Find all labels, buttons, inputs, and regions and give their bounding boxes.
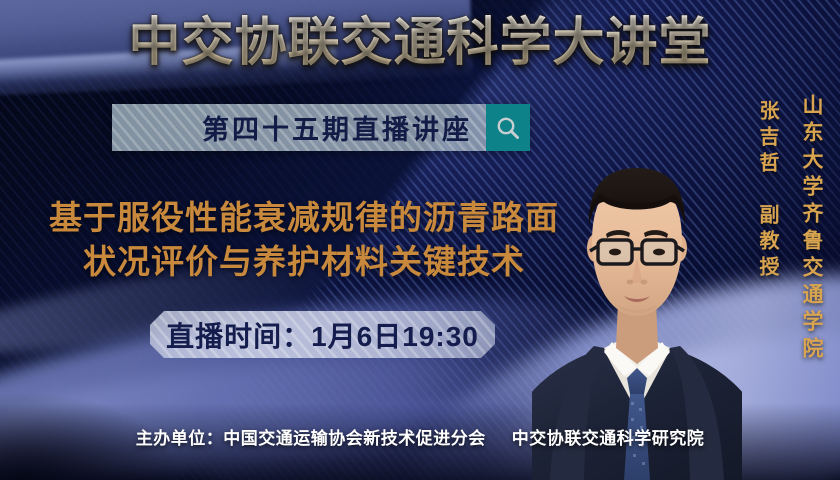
livestream-poster: 中交协联交通科学大讲堂 第四十五期直播讲座 基于服役性能衰减规律的沥青路面 状况… [0, 0, 840, 480]
page-title: 中交协联交通科学大讲堂 [0, 14, 840, 72]
speaker-affiliation: 山东大学齐鲁交通学院 [796, 94, 826, 364]
episode-banner-body: 第四十五期直播讲座 [112, 104, 486, 151]
footer-organizer-1: 中国交通运输协会新技术促进分会 [223, 429, 486, 448]
footer-organizer-label: 主办单位： [136, 429, 224, 448]
episode-banner-label: 第四十五期直播讲座 [202, 108, 472, 147]
background-bottom-left-shade [0, 355, 252, 480]
lecture-title-line-2: 状况评价与养护材料关键技术 [24, 240, 584, 284]
lecture-title-line-1: 基于服役性能衰减规律的沥青路面 [49, 199, 559, 236]
broadcast-time-text: 直播时间：1月6日19:30 [166, 315, 479, 355]
speaker-name: 张吉哲 副教授 [753, 100, 782, 282]
episode-banner: 第四十五期直播讲座 [112, 104, 530, 151]
search-icon-glyph [495, 115, 521, 141]
lecture-title: 基于服役性能衰减规律的沥青路面 状况评价与养护材料关键技术 [24, 196, 584, 284]
footer-organizers: 主办单位：中国交通运输协会新技术促进分会中交协联交通科学研究院 [0, 424, 840, 449]
footer-organizer-2: 中交协联交通科学研究院 [512, 429, 705, 448]
broadcast-time-box: 直播时间：1月6日19:30 [150, 311, 495, 358]
search-icon[interactable] [486, 104, 530, 151]
